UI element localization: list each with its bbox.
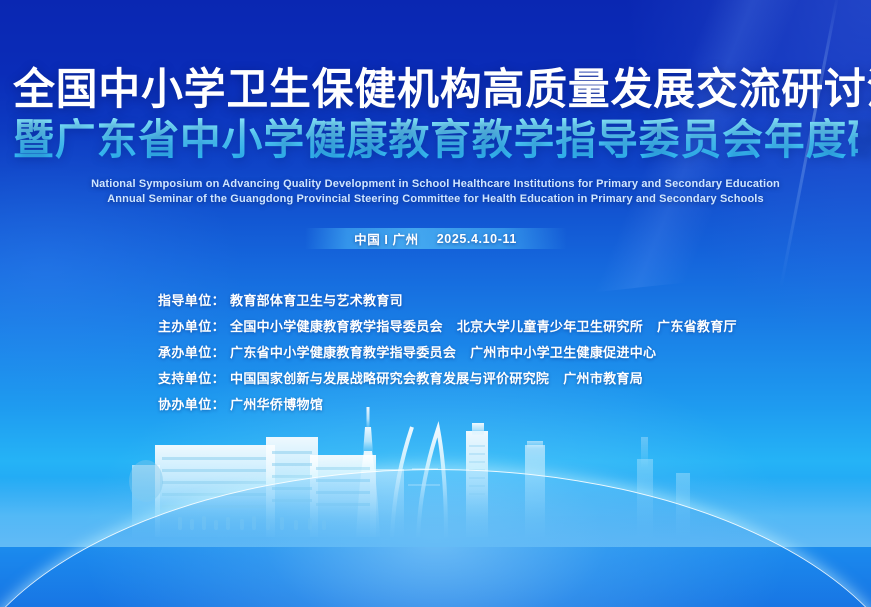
page-title-primary: 全国中小学卫生保健机构高质量发展交流研讨活动 bbox=[13, 68, 858, 113]
organization-row: 协办单位： 广州华侨博物馆 bbox=[158, 394, 737, 420]
school-building bbox=[129, 437, 404, 537]
organization-values: 广州华侨博物馆 bbox=[230, 394, 323, 413]
organization-label: 指导单位： bbox=[158, 290, 225, 309]
event-location: 中国 I 广州 bbox=[354, 229, 419, 248]
event-date: 2025.4.10-11 bbox=[437, 232, 517, 246]
tree bbox=[129, 460, 163, 502]
skyline-mist bbox=[0, 477, 871, 547]
page-title-secondary: 暨广东省中小学健康教育教学指导委员会年度研讨活动 bbox=[13, 118, 858, 162]
subtitle-english-line2: Annual Seminar of the Guangdong Provinci… bbox=[0, 192, 871, 207]
organization-label: 协办单位： bbox=[158, 394, 225, 413]
people-silhouettes bbox=[178, 516, 326, 530]
organization-values: 广东省中小学健康教育教学指导委员会广州市中小学卫生健康促进中心 bbox=[230, 342, 656, 361]
horizon-arc bbox=[0, 470, 871, 607]
building-windows bbox=[162, 451, 370, 508]
organization-values: 全国中小学健康教育教学指导委员会北京大学儿童青少年卫生研究所广东省教育厅 bbox=[230, 316, 737, 335]
subtitle-english-line1: National Symposium on Advancing Quality … bbox=[0, 177, 871, 192]
conference-poster: 全国中小学卫生保健机构高质量发展交流研讨活动 暨广东省中小学健康教育教学指导委员… bbox=[0, 0, 871, 607]
organization-values: 教育部体育卫生与艺术教育司 bbox=[230, 290, 403, 309]
ctf-finance-centre bbox=[466, 423, 488, 537]
canton-tower bbox=[356, 407, 380, 537]
event-banner: 中国 I 广州 2025.4.10-11 bbox=[305, 228, 567, 249]
organization-values: 中国国家创新与发展战略研究会教育发展与评价研究院广州市教育局 bbox=[230, 368, 643, 387]
skyline-illustration bbox=[0, 407, 871, 537]
subtitle-english: National Symposium on Advancing Quality … bbox=[0, 177, 871, 207]
distant-towers bbox=[637, 437, 690, 537]
tower-connector bbox=[408, 469, 440, 485]
organization-label: 主办单位： bbox=[158, 316, 225, 335]
office-tower bbox=[525, 441, 545, 537]
organization-row: 主办单位： 全国中小学健康教育教学指导委员会北京大学儿童青少年卫生研究所广东省教… bbox=[158, 316, 737, 342]
organization-label: 支持单位： bbox=[158, 368, 225, 387]
organization-row: 指导单位： 教育部体育卫生与艺术教育司 bbox=[158, 290, 737, 316]
organization-row: 支持单位： 中国国家创新与发展战略研究会教育发展与评价研究院广州市教育局 bbox=[158, 368, 737, 394]
organization-list: 指导单位： 教育部体育卫生与艺术教育司 主办单位： 全国中小学健康教育教学指导委… bbox=[158, 290, 737, 420]
title-block: 全国中小学卫生保健机构高质量发展交流研讨活动 暨广东省中小学健康教育教学指导委员… bbox=[0, 68, 871, 161]
twin-curved-towers bbox=[392, 427, 446, 537]
organization-row: 承办单位： 广东省中小学健康教育教学指导委员会广州市中小学卫生健康促进中心 bbox=[158, 342, 737, 368]
organization-label: 承办单位： bbox=[158, 342, 225, 361]
